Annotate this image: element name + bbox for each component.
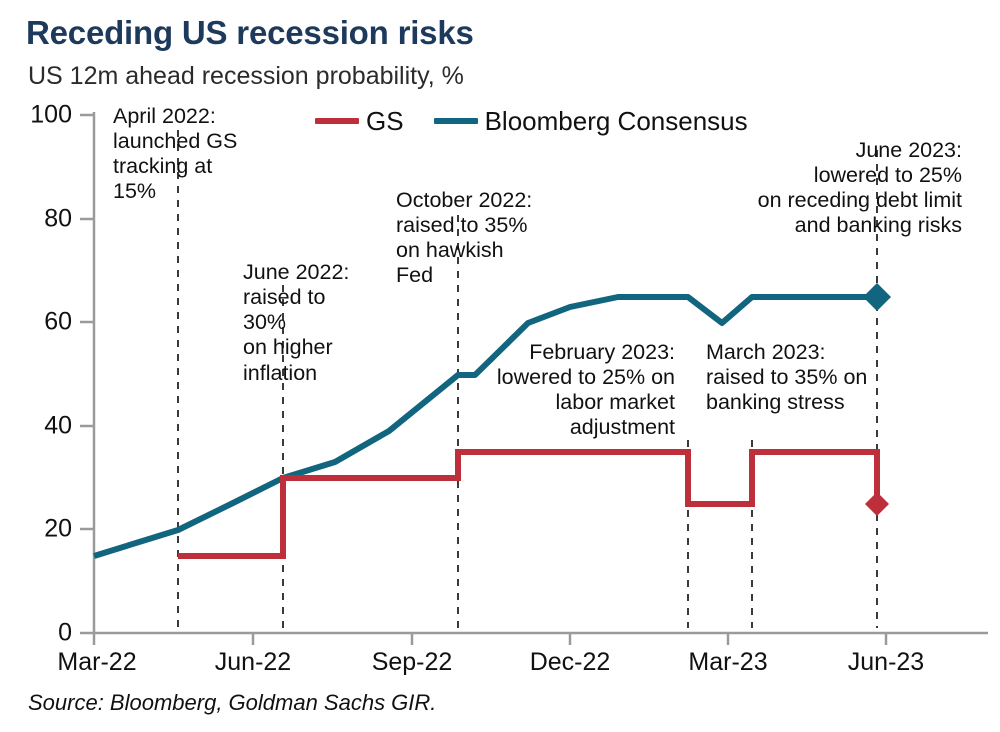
series-endpoint-marker-gs bbox=[865, 492, 889, 516]
source-note: Source: Bloomberg, Goldman Sachs GIR. bbox=[28, 690, 436, 716]
series-endpoint-marker-bloomberg-consensus bbox=[863, 283, 891, 311]
legend-item-bloomberg-consensus[interactable]: Bloomberg Consensus bbox=[434, 108, 748, 134]
annotation-february-2023: February 2023: lowered to 25% on labor m… bbox=[462, 340, 675, 441]
annotation-april-2022: April 2022: launched GS tracking at 15% bbox=[113, 104, 263, 205]
chart-legend: GS Bloomberg Consensus bbox=[315, 108, 748, 134]
annotation-march-2023: March 2023: raised to 35% on banking str… bbox=[706, 340, 896, 415]
legend-swatch-bloomberg-consensus bbox=[434, 118, 478, 124]
legend-label-bloomberg-consensus: Bloomberg Consensus bbox=[485, 108, 748, 134]
legend-label-gs: GS bbox=[366, 108, 404, 134]
legend-swatch-gs bbox=[315, 118, 359, 124]
legend-item-gs[interactable]: GS bbox=[315, 108, 404, 134]
annotation-june-2022: June 2022: raised to 30% on higher infla… bbox=[243, 260, 393, 386]
annotation-october-2022: October 2022: raised to 35% on hawkish F… bbox=[396, 188, 571, 289]
annotation-june-2023: June 2023: lowered to 25% on receding de… bbox=[740, 138, 962, 239]
recession-risk-chart: Receding US recession risks US 12m ahead… bbox=[0, 0, 1000, 732]
